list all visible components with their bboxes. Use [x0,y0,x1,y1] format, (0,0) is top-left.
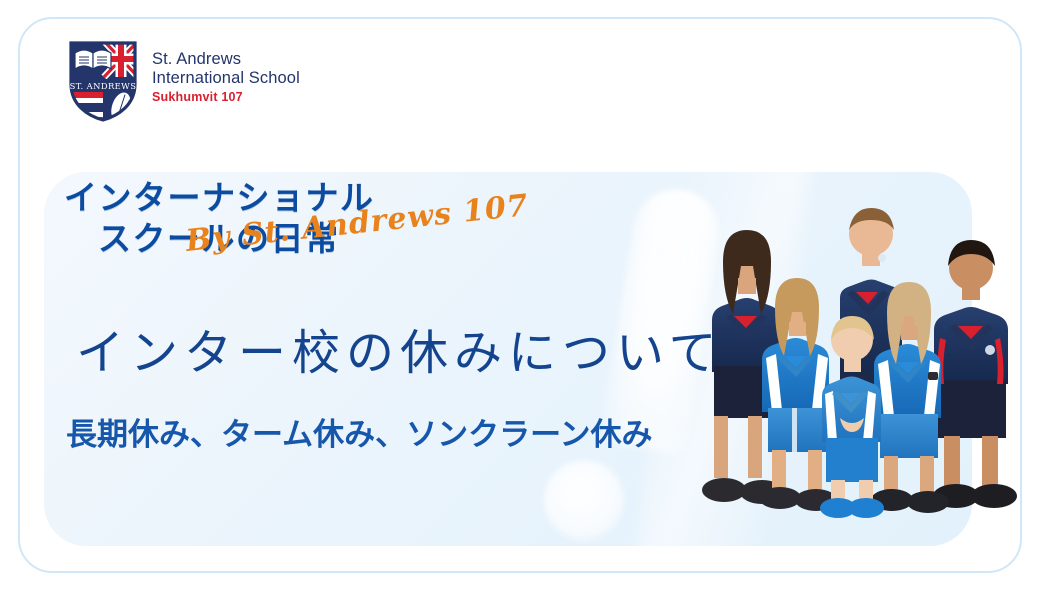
student-boy-navy-right [933,240,1017,508]
page-title: インター校の休みについて [76,325,723,383]
svg-text:ST. ANDREWS: ST. ANDREWS [70,81,137,91]
students-group-photo [690,190,1020,520]
brand-name-line2: International School [152,69,300,88]
brand-name-line1: St. Andrews [152,50,300,69]
page-subtitle: 長期休み、ターム休み、ソンクラーン休み [66,415,653,455]
st-andrews-crest-icon: ST. ANDREWS [66,39,140,123]
brand-campus: Sukhumvit 107 [152,89,300,106]
poster-canvas: ST. ANDREWS St. Andrews International Sc… [0,0,1040,591]
brand-logo: ST. ANDREWS St. Andrews International Sc… [66,39,300,123]
